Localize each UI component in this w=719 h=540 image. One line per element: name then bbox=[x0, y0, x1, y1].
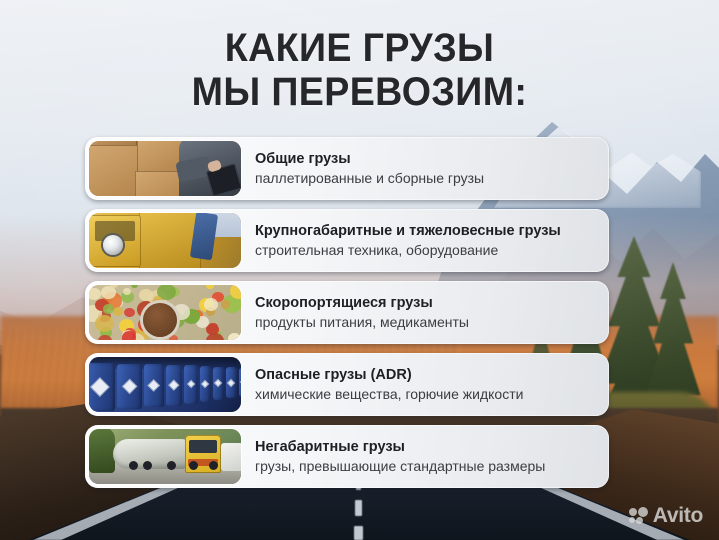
cargo-subtitle: химические вещества, горючие жидкости bbox=[255, 385, 523, 403]
cargo-thumbnail-non-standard bbox=[89, 429, 241, 484]
cargo-text-block: Общие грузы паллетированные и сборные гр… bbox=[241, 151, 494, 187]
cargo-title: Опасные грузы (ADR) bbox=[255, 367, 523, 384]
cargo-subtitle: продукты питания, медикаменты bbox=[255, 313, 469, 331]
cargo-title: Скоропортящиеся грузы bbox=[255, 295, 469, 312]
avito-wordmark: Avito bbox=[653, 505, 703, 526]
cargo-text-block: Скоропортящиеся грузы продукты питания, … bbox=[241, 295, 479, 331]
list-item[interactable]: Общие грузы паллетированные и сборные гр… bbox=[85, 137, 609, 200]
cargo-text-block: Опасные грузы (ADR) химические вещества,… bbox=[241, 367, 533, 403]
list-item[interactable]: Негабаритные грузы грузы, превышающие ст… bbox=[85, 425, 609, 488]
page-title-line-2: МЫ ПЕРЕВОЗИМ: bbox=[22, 70, 698, 114]
cargo-text-block: Крупногабаритные и тяжеловесные грузы ст… bbox=[241, 223, 571, 259]
cargo-thumbnail-oversized-heavy bbox=[89, 213, 241, 268]
list-item[interactable]: Крупногабаритные и тяжеловесные грузы ст… bbox=[85, 209, 609, 272]
cargo-subtitle: грузы, превышающие стандартные размеры bbox=[255, 457, 545, 475]
cargo-thumbnail-general bbox=[89, 141, 241, 196]
list-item[interactable]: Опасные грузы (ADR) химические вещества,… bbox=[85, 353, 609, 416]
page-title-line-1: КАКИЕ ГРУЗЫ bbox=[22, 26, 698, 70]
avito-watermark: Avito bbox=[629, 505, 703, 526]
road-center-dash bbox=[354, 526, 363, 540]
avito-logo-icon bbox=[629, 507, 648, 524]
cargo-subtitle: паллетированные и сборные грузы bbox=[255, 169, 484, 187]
cargo-thumbnail-perishable bbox=[89, 285, 241, 340]
cargo-type-list: Общие грузы паллетированные и сборные гр… bbox=[85, 137, 609, 497]
cargo-title: Общие грузы bbox=[255, 151, 484, 168]
list-item[interactable]: Скоропортящиеся грузы продукты питания, … bbox=[85, 281, 609, 344]
cargo-title: Крупногабаритные и тяжеловесные грузы bbox=[255, 223, 561, 240]
road-center-dash bbox=[355, 500, 362, 516]
cargo-subtitle: строительная техника, оборудование bbox=[255, 241, 561, 259]
cargo-title: Негабаритные грузы bbox=[255, 439, 545, 456]
cargo-text-block: Негабаритные грузы грузы, превышающие ст… bbox=[241, 439, 555, 475]
cargo-thumbnail-dangerous-adr bbox=[89, 357, 241, 412]
page-title: КАКИЕ ГРУЗЫ МЫ ПЕРЕВОЗИМ: bbox=[22, 26, 698, 114]
